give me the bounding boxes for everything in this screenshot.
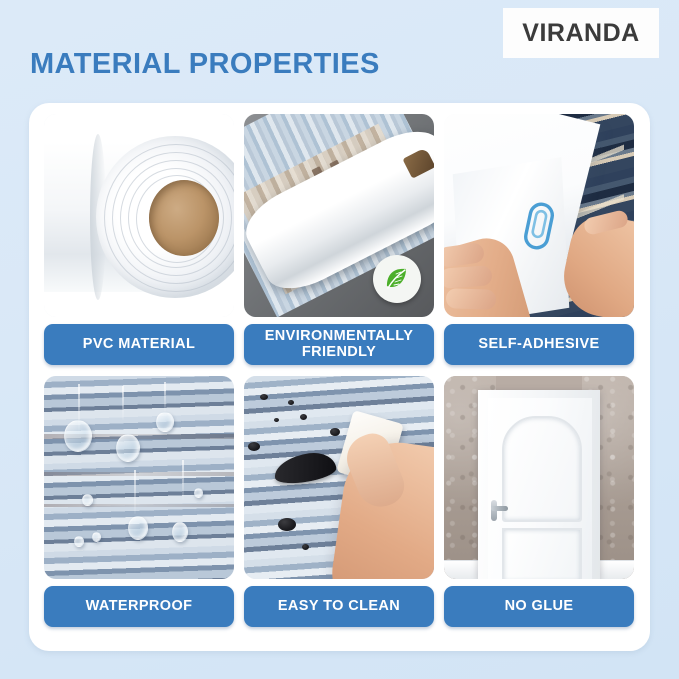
green-leaf-icon xyxy=(382,264,412,294)
feature-cell-no-glue: NO GLUE xyxy=(444,376,634,627)
features-card: PVC MATERIAL xyxy=(29,103,650,651)
feature-label-waterproof: WATERPROOF xyxy=(44,586,234,627)
feature-cell-self-adhesive: SELF-ADHESIVE xyxy=(444,114,634,365)
eco-friendly-peeling-vinyl-photo xyxy=(244,114,434,317)
eco-leaf-badge xyxy=(373,255,421,303)
pvc-vinyl-roll-photo xyxy=(44,114,234,317)
feature-label-pvc-material: PVC MATERIAL xyxy=(44,324,234,365)
brand-logo: VIRANDA xyxy=(503,8,659,58)
brand-logo-text: VIRANDA xyxy=(522,19,639,48)
feature-label-no-glue: NO GLUE xyxy=(444,586,634,627)
easy-to-clean-wiping-photo xyxy=(244,376,434,579)
feature-cell-environmentally-friendly: ENVIRONMENTALLY FRIENDLY xyxy=(244,114,434,365)
feature-label-self-adhesive: SELF-ADHESIVE xyxy=(444,324,634,365)
feature-label-easy-to-clean: EASY TO CLEAN xyxy=(244,586,434,627)
no-glue-door-photo xyxy=(444,376,634,579)
feature-cell-easy-to-clean: EASY TO CLEAN xyxy=(244,376,434,627)
feature-cell-pvc-material: PVC MATERIAL xyxy=(44,114,234,365)
waterproof-droplets-photo xyxy=(44,376,234,579)
product-infographic-poster: VIRANDA MATERIAL PROPERTIES xyxy=(0,0,679,679)
page-title: MATERIAL PROPERTIES xyxy=(30,48,380,81)
features-grid: PVC MATERIAL xyxy=(44,114,635,627)
feature-label-environmentally-friendly: ENVIRONMENTALLY FRIENDLY xyxy=(244,324,434,365)
self-adhesive-peel-photo xyxy=(444,114,634,317)
feature-cell-waterproof: WATERPROOF xyxy=(44,376,234,627)
